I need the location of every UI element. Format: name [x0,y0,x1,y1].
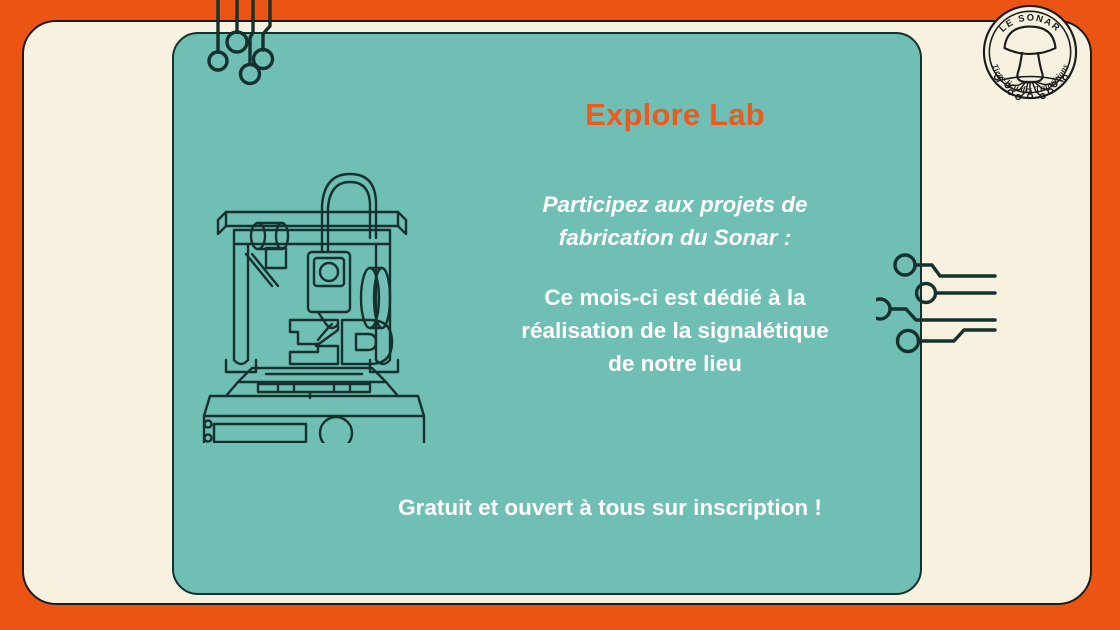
lead-line-1: Participez aux projets de [542,192,807,217]
detail-line-1: Ce mois-ci est dédié à la [544,285,805,310]
3d-printer-illustration [186,168,441,443]
detail-paragraph: Ce mois-ci est dédié à la réalisation de… [430,254,920,380]
detail-line-3: de notre lieu [608,351,742,376]
footer-note: Gratuit et ouvert à tous sur inscription… [330,495,890,521]
poster-canvas: LE SONAR Tiers-lieu des Transitions Expl… [0,0,1120,630]
circuit-decoration-top-left [200,0,300,98]
lead-paragraph: Participez aux projets de fabrication du… [430,133,920,254]
detail-line-2: réalisation de la signalétique [521,318,829,343]
text-column: Explore Lab Participez aux projets de fa… [430,96,920,380]
logo-le-sonar: LE SONAR Tiers-lieu des Transitions [981,3,1079,101]
lead-line-2: fabrication du Sonar : [559,225,792,250]
page-title: Explore Lab [430,96,920,133]
